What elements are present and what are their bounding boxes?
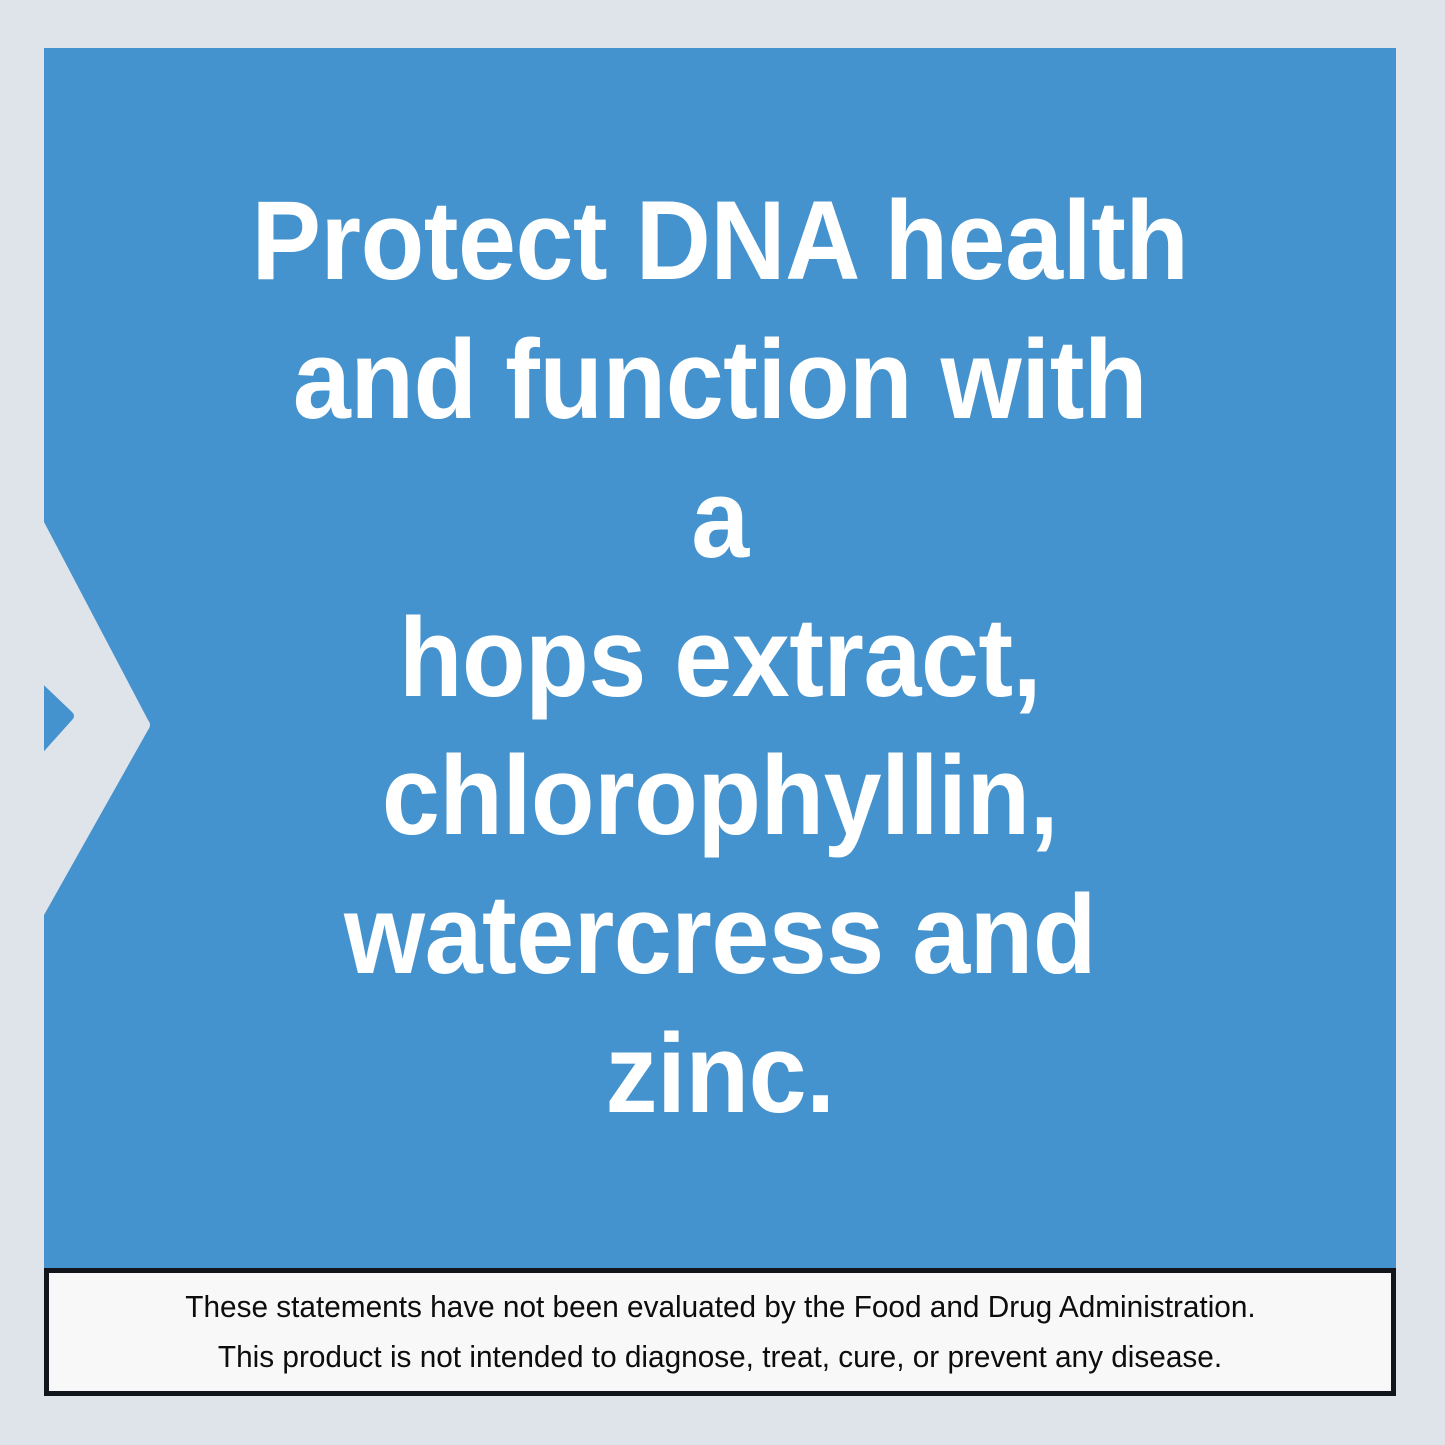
disclaimer-line-2: This product is not intended to diagnose… — [218, 1332, 1222, 1382]
headline-container: Protect DNA health and function with a h… — [44, 48, 1396, 1268]
fda-disclaimer-box: These statements have not been evaluated… — [44, 1268, 1396, 1396]
disclaimer-line-1: These statements have not been evaluated… — [185, 1282, 1255, 1332]
page-title: Protect DNA health and function with a h… — [250, 172, 1189, 1144]
product-claim-card: Protect DNA health and function with a h… — [0, 0, 1445, 1445]
